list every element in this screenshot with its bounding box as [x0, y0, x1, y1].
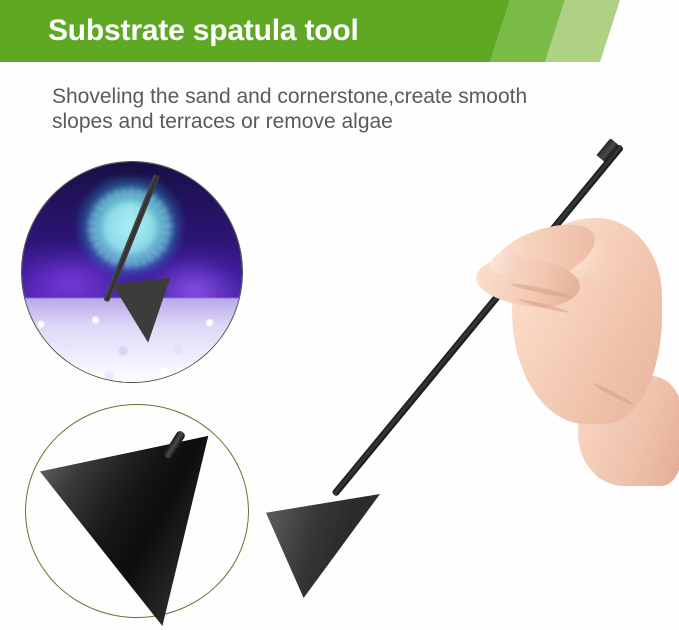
header-banner: Substrate spatula tool [0, 0, 679, 62]
subtitle-line-1: Shoveling the sand and cornerstone,creat… [52, 84, 652, 109]
subtitle-text: Shoveling the sand and cornerstone,creat… [52, 84, 652, 134]
aquarium-photo-circle [22, 162, 242, 382]
page-title: Substrate spatula tool [48, 10, 359, 52]
cyan-coral [75, 177, 185, 278]
hand-holding-tool [470, 196, 679, 466]
tool-blade-shading [266, 494, 380, 598]
subtitle-line-2: slopes and terraces or remove algae [52, 109, 652, 134]
product-feature-image: Substrate spatula tool Shoveling the san… [0, 0, 679, 630]
